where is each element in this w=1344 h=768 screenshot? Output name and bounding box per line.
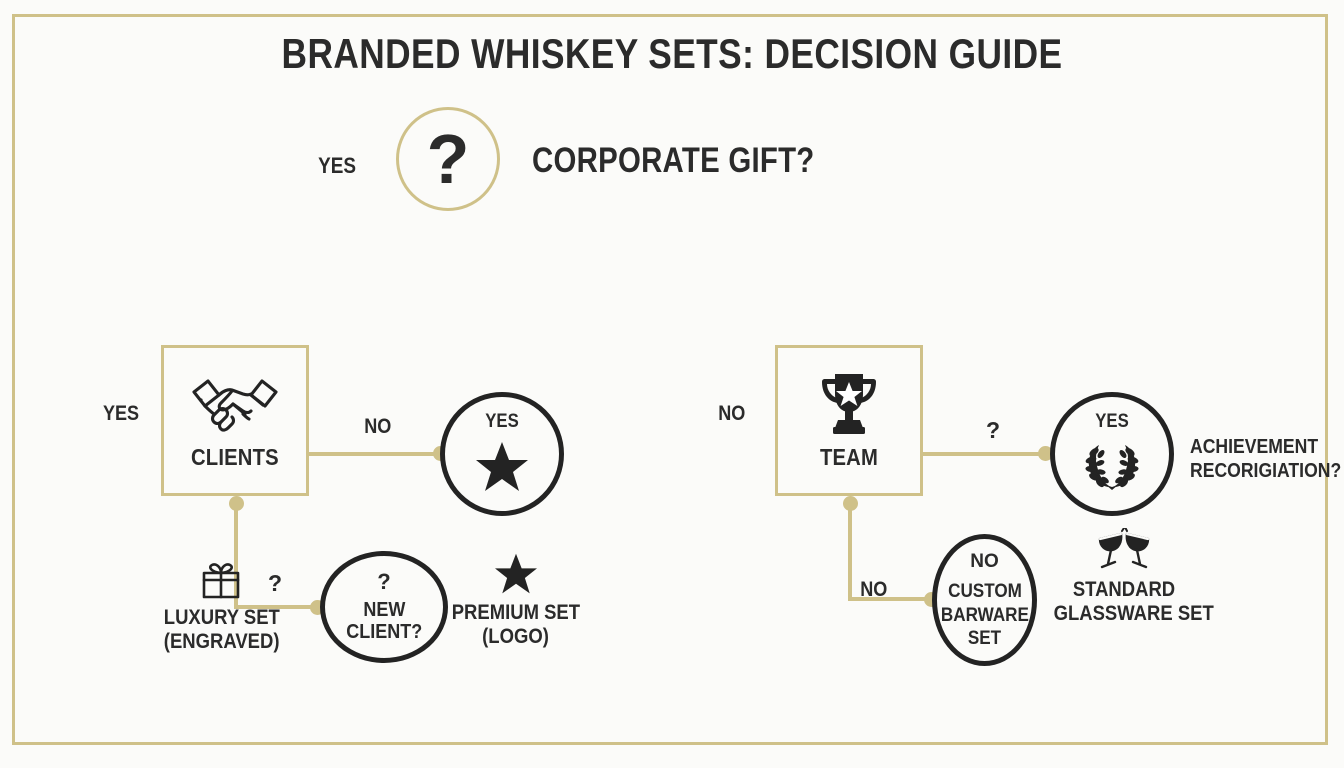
page-title: BRANDED WHISKEY SETS: DECISION GUIDE <box>108 30 1237 78</box>
connector-clients-to-outcome <box>308 452 446 456</box>
gift-icon <box>156 556 286 602</box>
terminal-standard-glassware: STANDARD GLASSWARE SET <box>1044 528 1204 627</box>
laurel-wreath-icon <box>1055 441 1169 491</box>
terminal-premium-set: PREMIUM SET (LOGO) <box>443 551 588 650</box>
category-box-team[interactable]: TEAM <box>775 345 923 496</box>
barware-label-no: NO <box>970 550 999 573</box>
connector-team-down <box>848 503 852 601</box>
terminal-caption-premium: PREMIUM SET (LOGO) <box>443 601 588 650</box>
left-branch-entry-label: YES <box>103 402 139 426</box>
edge-label-team-question: ? <box>986 417 1000 444</box>
category-box-clients[interactable]: CLIENTS <box>161 345 309 496</box>
question-circle-custom-barware[interactable]: NO CUSTOM BARWARE SET <box>932 534 1037 666</box>
outcome-label-yes: YES <box>1055 411 1169 433</box>
infographic-canvas: BRANDED WHISKEY SETS: DECISION GUIDE YES… <box>0 0 1344 768</box>
root-question-heading: CORPORATE GIFT? <box>532 141 815 181</box>
connector-team-to-outcome <box>922 452 1056 456</box>
new-client-question-mark: ? <box>377 570 390 595</box>
category-label-clients: CLIENTS <box>164 444 306 471</box>
terminal-caption-luxury: LUXURY SET (ENGRAVED) <box>156 606 286 655</box>
star-icon <box>445 441 559 493</box>
clinking-glasses-icon <box>1044 528 1204 574</box>
edge-label-clients-no: NO <box>364 415 391 439</box>
terminal-caption-glassware: STANDARD GLASSWARE SET <box>1044 578 1204 627</box>
handshake-icon <box>164 364 306 442</box>
trophy-icon <box>778 364 920 442</box>
root-question-node[interactable]: ? <box>396 107 500 211</box>
root-yes-label: YES <box>318 153 356 179</box>
right-branch-entry-label: NO <box>718 402 745 426</box>
outcome-circle-yes-star[interactable]: YES <box>440 392 564 516</box>
question-circle-new-client[interactable]: ? NEW CLIENT? <box>320 551 448 663</box>
star-icon <box>443 551 588 597</box>
question-mark-icon: ? <box>399 110 497 208</box>
outcome-caption-achievement: ACHIEVEMENT RECORIGIATION? <box>1190 435 1344 483</box>
terminal-luxury-set: LUXURY SET (ENGRAVED) <box>156 556 286 655</box>
category-label-team: TEAM <box>778 444 920 471</box>
outcome-label-yes: YES <box>445 411 559 433</box>
outcome-circle-yes-laurel[interactable]: YES <box>1050 392 1174 516</box>
custom-barware-text: NO CUSTOM BARWARE SET <box>933 539 1036 661</box>
new-client-text: ? NEW CLIENT? <box>325 556 443 658</box>
edge-label-team-no: NO <box>860 578 887 602</box>
